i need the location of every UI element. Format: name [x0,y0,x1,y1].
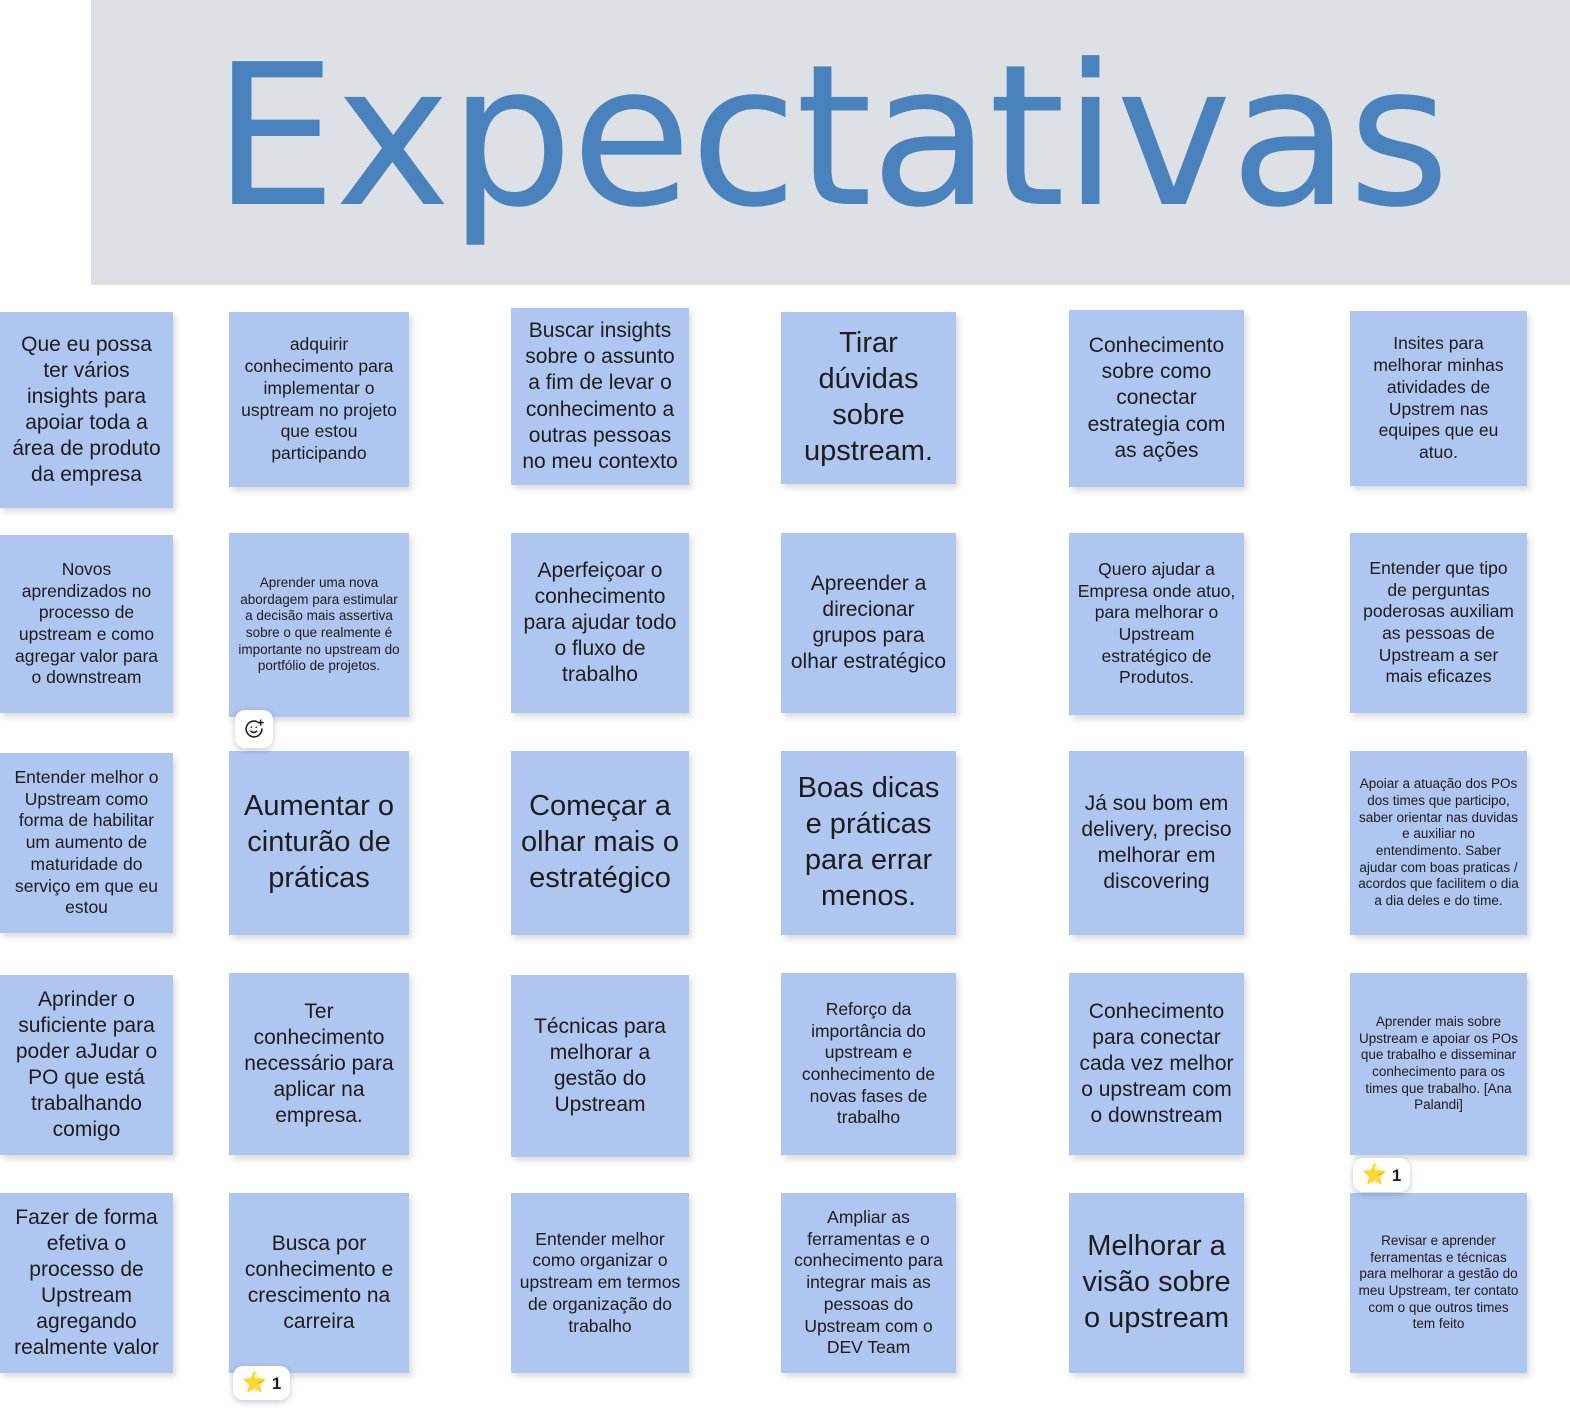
sticky-note[interactable]: Ampliar as ferramentas e o conhecimento … [781,1193,956,1373]
sticky-note[interactable]: Já sou bom em delivery, preciso melhorar… [1069,751,1244,935]
sticky-note-text: Que eu possa ter vários insights para ap… [8,332,165,488]
sticky-note-text: Aprinder o suficiente para poder aJudar … [8,987,165,1143]
sticky-note[interactable]: Entender que tipo de perguntas poderosas… [1350,533,1527,713]
sticky-note[interactable]: Aumentar o cinturão de práticas [229,751,409,935]
sticky-note-text: Conhecimento para conectar cada vez melh… [1077,999,1236,1129]
sticky-note[interactable]: Conhecimento sobre como conectar estrate… [1069,310,1244,487]
sticky-note-text: Fazer de forma efetiva o processo de Ups… [8,1205,165,1361]
page-title: Expectativas [213,39,1448,235]
sticky-note-text: Boas dicas e práticas para errar menos. [789,771,948,915]
sticky-note-text: Busca por conhecimento e crescimento na … [237,1231,401,1335]
sticky-note-text: Já sou bom em delivery, preciso melhorar… [1077,791,1236,895]
sticky-note-text: Insites para melhorar minhas atividades … [1358,333,1519,463]
sticky-note[interactable]: Conhecimento para conectar cada vez melh… [1069,973,1244,1155]
sticky-note-text: Aperfeiçoar o conhecimento para ajudar t… [519,558,681,688]
sticky-note-text: Quero ajudar a Empresa onde atuo, para m… [1077,559,1236,689]
sticky-note[interactable]: Apoiar a atuação dos POs dos times que p… [1350,751,1527,935]
star-emoji: ⭐ [242,1373,267,1393]
sticky-note-text: Técnicas para melhorar a gestão do Upstr… [519,1014,681,1118]
sticky-note[interactable]: Tirar dúvidas sobre upstream. [781,312,956,484]
sticky-note[interactable]: Novos aprendizados no processo de upstre… [0,535,173,713]
sticky-note-text: Ampliar as ferramentas e o conhecimento … [789,1207,948,1359]
sticky-note-text: Apoiar a atuação dos POs dos times que p… [1358,776,1519,910]
sticky-note-text: Entender melhor o Upstream como forma de… [8,767,165,919]
sticky-note[interactable]: Buscar insights sobre o assunto a fim de… [511,308,689,485]
sticky-note-text: Ter conhecimento necessário para aplicar… [237,999,401,1129]
sticky-note[interactable]: Ter conhecimento necessário para aplicar… [229,973,409,1155]
sticky-note[interactable]: Boas dicas e práticas para errar menos. [781,751,956,935]
reaction-badge[interactable]: ⭐ 1 [1353,1158,1410,1192]
sticky-note-board: Que eu possa ter vários insights para ap… [0,285,1570,1412]
sticky-note-text: Entender que tipo de perguntas poderosas… [1358,558,1519,688]
sticky-note[interactable]: Entender melhor como organizar o upstrea… [511,1193,689,1373]
sticky-note[interactable]: Aprinder o suficiente para poder aJudar … [0,975,173,1155]
sticky-note-text: adquirir conhecimento para implementar o… [237,334,401,464]
sticky-note[interactable]: Insites para melhorar minhas atividades … [1350,311,1527,486]
sticky-note[interactable]: Apreender a direcionar grupos para olhar… [781,533,956,713]
sticky-note[interactable]: Revisar e aprender ferramentas e técnica… [1350,1193,1527,1373]
sticky-note-text: Começar a olhar mais o estratégico [519,789,681,897]
sticky-note[interactable]: adquirir conhecimento para implementar o… [229,312,409,487]
sticky-note-text: Melhorar a visão sobre o upstream [1077,1229,1236,1337]
sticky-note[interactable]: Reforço da importância do upstream e con… [781,973,956,1155]
sticky-note-text: Reforço da importância do upstream e con… [789,999,948,1129]
add-reaction-button[interactable] [235,710,273,748]
sticky-note[interactable]: Aprender uma nova abordagem para estimul… [229,533,409,717]
sticky-note-text: Novos aprendizados no processo de upstre… [8,559,165,689]
board-header-band: Expectativas [91,0,1570,285]
sticky-note-text: Entender melhor como organizar o upstrea… [519,1229,681,1337]
sticky-note[interactable]: Fazer de forma efetiva o processo de Ups… [0,1193,173,1373]
sticky-note[interactable]: Entender melhor o Upstream como forma de… [0,753,173,933]
sticky-note-text: Apreender a direcionar grupos para olhar… [789,571,948,675]
add-reaction-icon [243,718,265,740]
sticky-note-text: Buscar insights sobre o assunto a fim de… [519,318,681,474]
star-emoji: ⭐ [1362,1165,1387,1185]
sticky-note[interactable]: Quero ajudar a Empresa onde atuo, para m… [1069,533,1244,715]
sticky-note[interactable]: Aperfeiçoar o conhecimento para ajudar t… [511,533,689,713]
sticky-note[interactable]: Busca por conhecimento e crescimento na … [229,1193,409,1373]
reaction-count: 1 [272,1375,281,1392]
reaction-badge[interactable]: ⭐ 1 [233,1366,290,1400]
reaction-count: 1 [1392,1167,1401,1184]
sticky-note[interactable]: Que eu possa ter vários insights para ap… [0,312,173,508]
sticky-note-text: Aprender uma nova abordagem para estimul… [237,575,401,675]
sticky-note[interactable]: Melhorar a visão sobre o upstream [1069,1193,1244,1373]
sticky-note[interactable]: Começar a olhar mais o estratégico [511,751,689,935]
sticky-note-text: Conhecimento sobre como conectar estrate… [1077,333,1236,463]
sticky-note-text: Tirar dúvidas sobre upstream. [789,326,948,470]
sticky-note[interactable]: Aprender mais sobre Upstream e apoiar os… [1350,973,1527,1155]
sticky-note-text: Aumentar o cinturão de práticas [237,789,401,897]
sticky-note[interactable]: Técnicas para melhorar a gestão do Upstr… [511,975,689,1157]
sticky-note-text: Aprender mais sobre Upstream e apoiar os… [1358,1014,1519,1114]
sticky-note-text: Revisar e aprender ferramentas e técnica… [1358,1233,1519,1333]
